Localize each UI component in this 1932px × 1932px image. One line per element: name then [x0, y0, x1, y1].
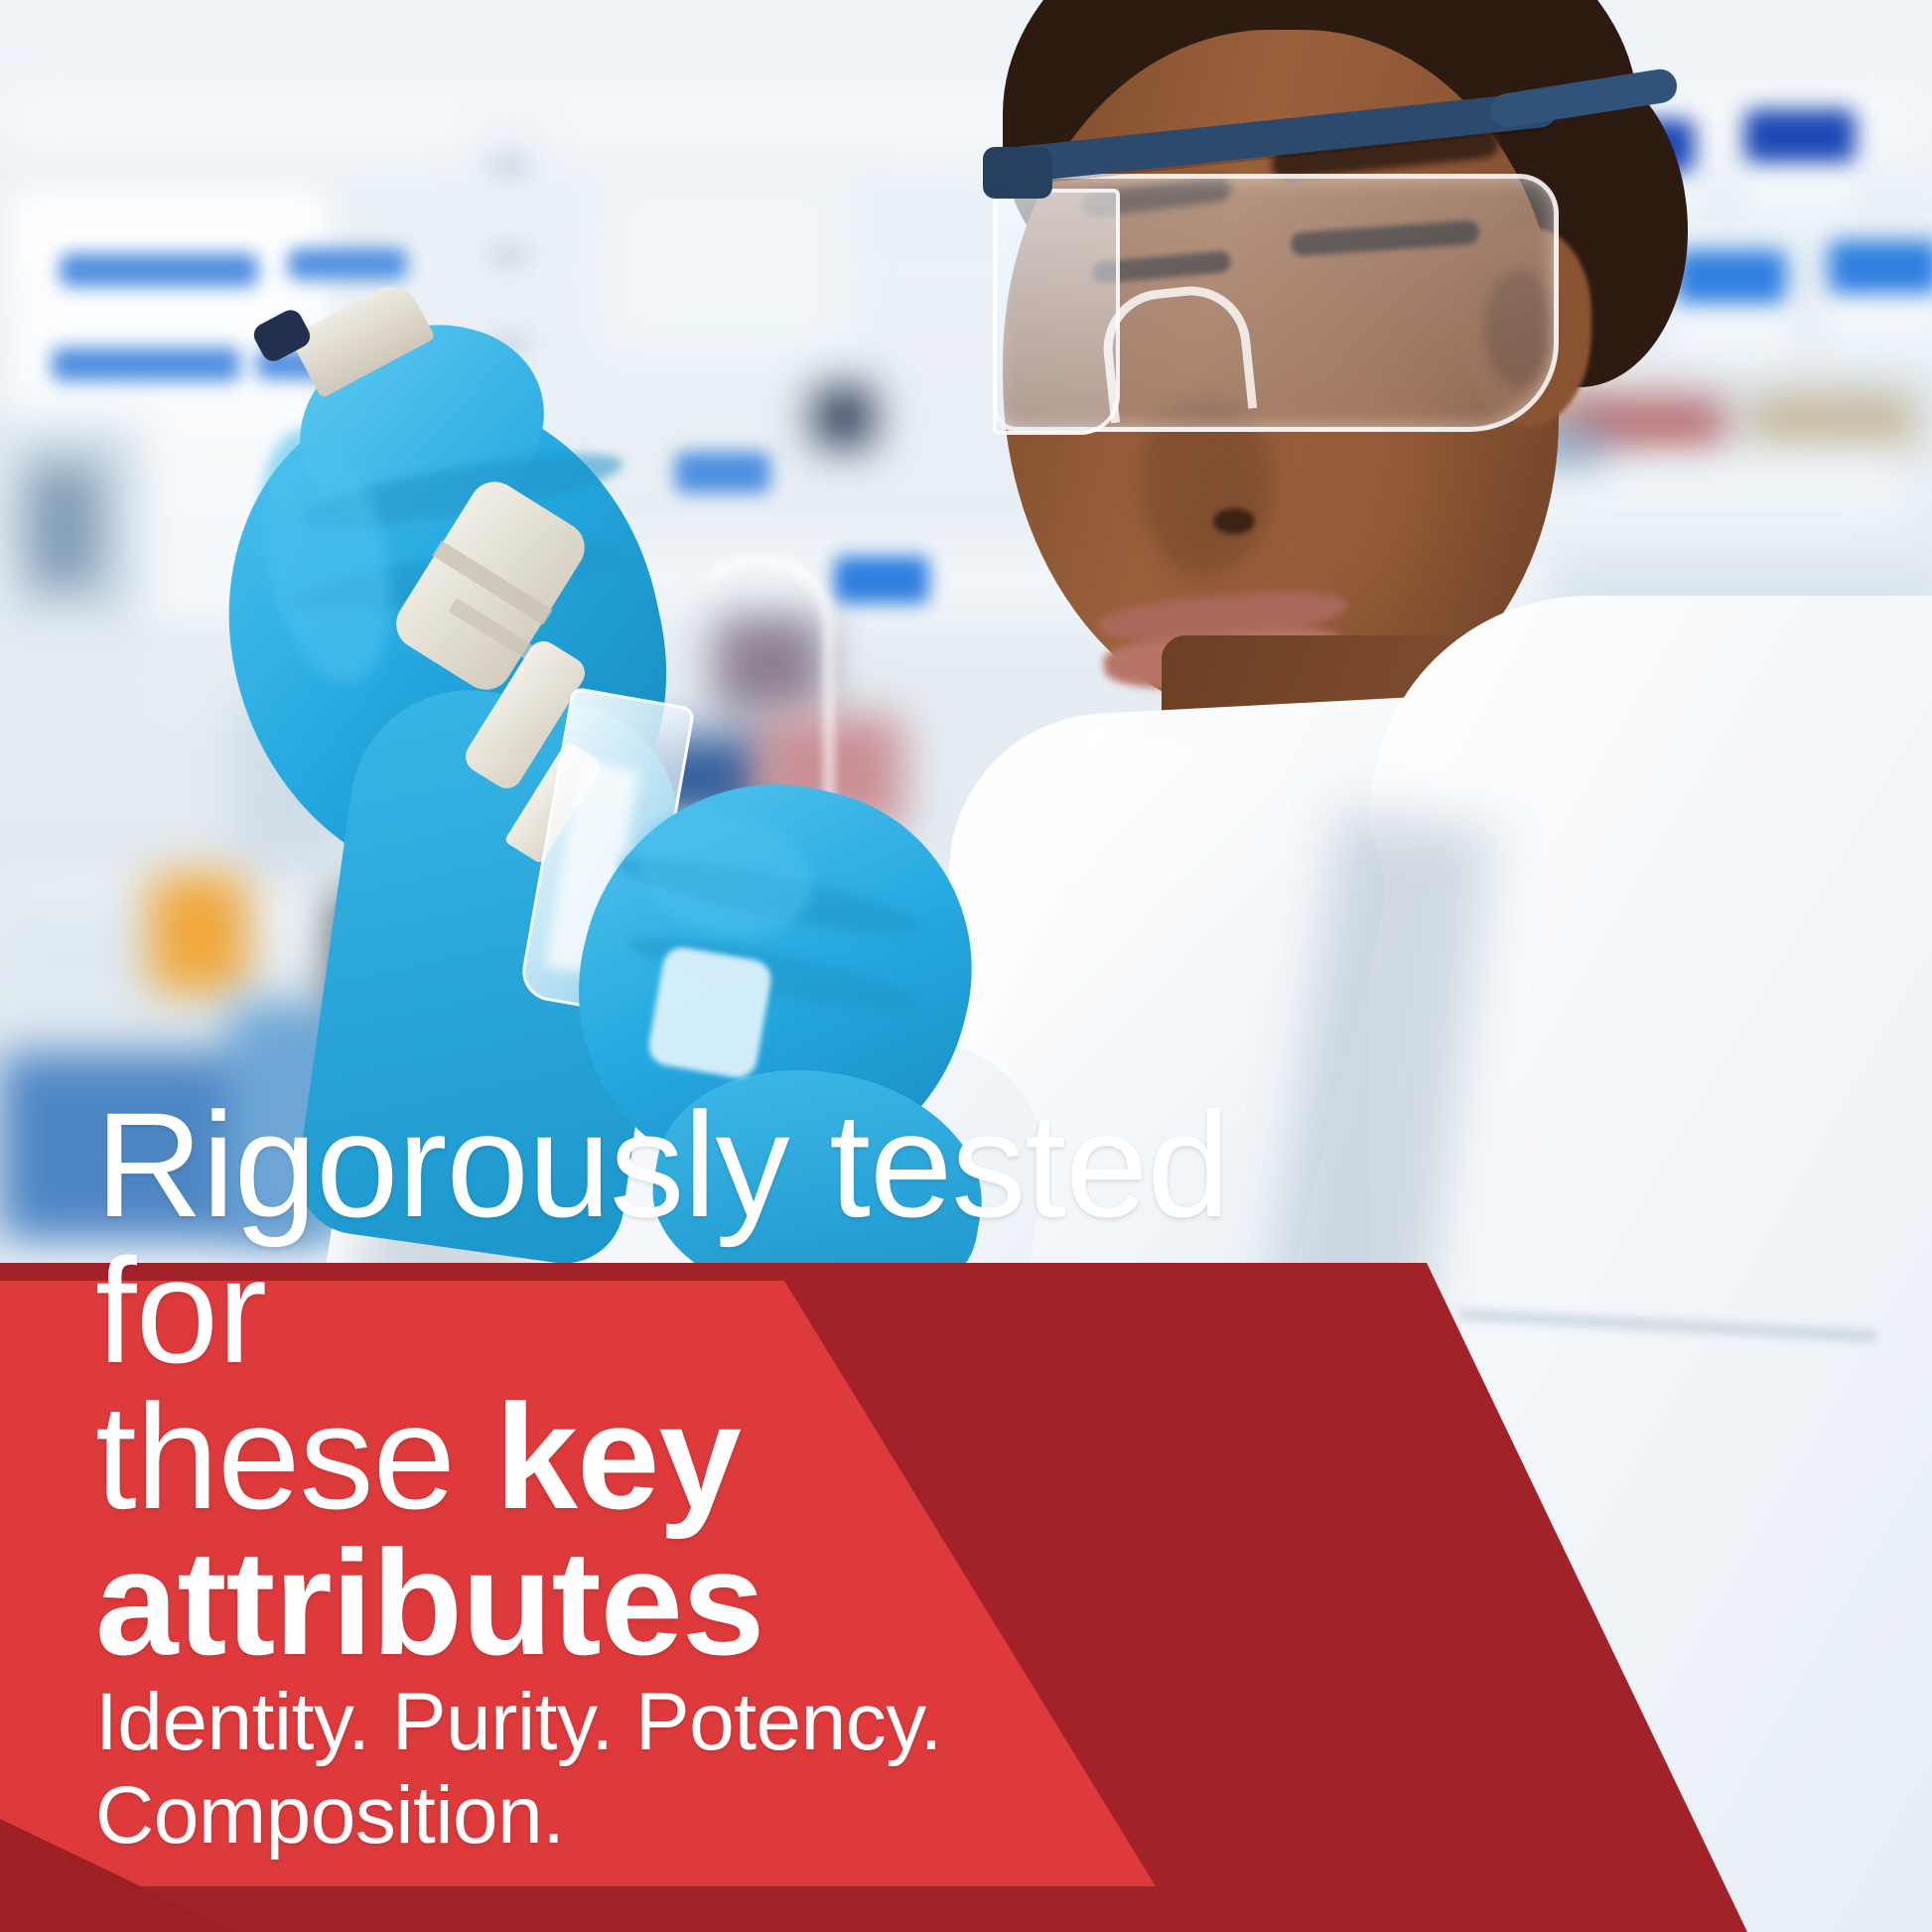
background-equipment [814, 387, 874, 447]
background-panel [596, 169, 854, 357]
background-tick [491, 248, 527, 262]
orange-box [149, 874, 248, 993]
blue-label-bar [288, 248, 407, 280]
ad-banner-canvas: Rigorously tested for these key attribut… [0, 0, 1932, 1932]
vial-base [645, 944, 773, 1080]
bottle-cap-blue [1829, 240, 1932, 294]
red-banner: Rigorously tested for these key attribut… [0, 1263, 1932, 1932]
blue-label-bar [834, 556, 929, 604]
banner-copy: Rigorously tested for these key attribut… [95, 1092, 1416, 1863]
bottle-cap-blue [1675, 250, 1786, 304]
blue-label-bar [52, 347, 240, 381]
subline: Identity. Purity. Potency. Composition. [95, 1676, 1416, 1863]
headline: Rigorously tested for these key attribut… [95, 1092, 1416, 1676]
bottle-cap-blue [1744, 109, 1856, 163]
headline-line-2-light: these [95, 1373, 495, 1540]
nostril [1213, 508, 1255, 534]
safety-goggles-hinge [983, 147, 1052, 199]
safety-goggles-side-shield [993, 189, 1120, 435]
blue-label-bar [60, 253, 258, 287]
background-tick [491, 159, 527, 173]
background-equipment [30, 467, 99, 586]
background-equipment [1747, 392, 1916, 452]
headline-line-1: Rigorously tested for [95, 1081, 1229, 1394]
blue-label-bar [675, 452, 770, 493]
